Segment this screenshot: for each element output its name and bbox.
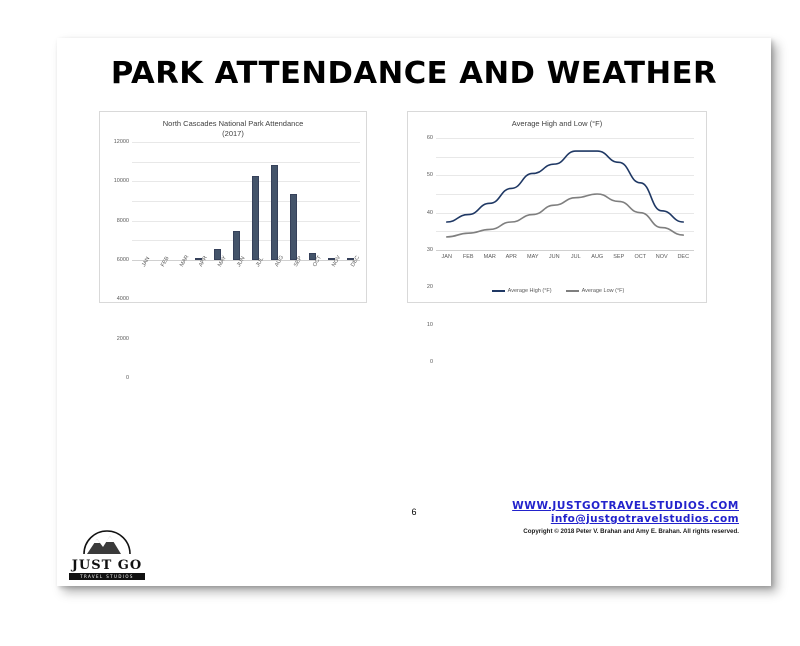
logo-wordmark: JUST GO [69, 558, 145, 573]
footer-contact-block: WWW.JUSTGOTRAVELSTUDIOS.COM info@justgot… [512, 500, 739, 536]
bar-chart-title-main: North Cascades National Park Attendance [163, 119, 304, 128]
bar-y-axis-label: 12000 [114, 139, 129, 145]
line-y-axis-label: 40 [427, 210, 433, 216]
line-y-axis-label: 50 [427, 172, 433, 178]
logo-tagline: TRAVEL STUDIOS [69, 573, 145, 580]
line-x-axis-label: FEB [463, 254, 474, 260]
bar-gridline: 2000 [132, 240, 360, 241]
line-x-axis-label: MAR [484, 254, 496, 260]
bar-y-axis-label: 4000 [117, 296, 129, 302]
line-y-axis-label: 30 [427, 247, 433, 253]
copyright-text: Copyright © 2018 Peter V. Brahan and Amy… [512, 528, 739, 536]
temperature-line-chart: Average High and Low (°F) 0102030405060J… [407, 111, 707, 303]
attendance-bar-chart: North Cascades National Park Attendance … [99, 111, 367, 303]
legend-label: Average High (°F) [508, 288, 552, 294]
bar [252, 176, 259, 260]
email-link[interactable]: info@justgotravelstudios.com [512, 513, 739, 526]
line-x-axis-label: SEP [613, 254, 624, 260]
website-link[interactable]: WWW.JUSTGOTRAVELSTUDIOS.COM [512, 500, 739, 513]
line-x-axis-label: NOV [656, 254, 668, 260]
bar-y-axis-label: 2000 [117, 336, 129, 342]
bar-gridline: 10000 [132, 162, 360, 163]
line-series-group [436, 138, 694, 250]
legend-swatch [566, 290, 579, 292]
line-x-axis-label: AUG [591, 254, 603, 260]
line-plot-area: 0102030405060JANFEBMARAPRMAYJUNJULAUGSEP… [436, 138, 694, 250]
bar [290, 194, 297, 260]
bar-gridline: 12000 [132, 142, 360, 143]
bar [271, 165, 278, 260]
bar-plot-area: 020004000600080001000012000JANFEBMARAPRM… [132, 142, 360, 260]
bar-chart-subtitle: (2017) [100, 129, 366, 139]
line-gridline: 0 [436, 250, 694, 251]
bar-gridline: 4000 [132, 221, 360, 222]
line-series [447, 194, 684, 237]
bar-x-axis-label: MAR [179, 254, 190, 268]
line-x-axis-label: JUL [571, 254, 581, 260]
legend-label: Average Low (°F) [582, 288, 625, 294]
bar-x-axis-label: FEB [160, 256, 171, 268]
mountain-circle-icon [69, 528, 145, 554]
bar-x-axis-label: NOV [331, 255, 342, 268]
bar-y-axis-label: 10000 [114, 178, 129, 184]
line-x-axis-label: APR [506, 254, 517, 260]
line-x-axis-label: MAY [527, 254, 539, 260]
legend-item[interactable]: Average High (°F) [492, 288, 552, 294]
page-title: PARK ATTENDANCE AND WEATHER [50, 56, 778, 91]
legend-item[interactable]: Average Low (°F) [566, 288, 625, 294]
bar-y-axis-label: 0 [126, 375, 129, 381]
line-x-axis-label: JUN [549, 254, 560, 260]
line-x-axis-label: OCT [634, 254, 646, 260]
bar-x-axis-label: DEC [350, 255, 361, 268]
bar-y-axis-label: 8000 [117, 218, 129, 224]
bar-gridline: 8000 [132, 181, 360, 182]
line-x-axis-label: DEC [677, 254, 689, 260]
line-chart-legend: Average High (°F)Average Low (°F) [408, 288, 708, 294]
bar-y-axis-label: 6000 [117, 257, 129, 263]
line-y-axis-label: 10 [427, 322, 433, 328]
bar-gridline: 6000 [132, 201, 360, 202]
document-page: PARK ATTENDANCE AND WEATHER North Cascad… [57, 38, 771, 586]
brand-logo: JUST GO TRAVEL STUDIOS [69, 528, 145, 574]
line-series [447, 151, 684, 222]
line-y-axis-label: 0 [430, 359, 433, 365]
line-chart-title: Average High and Low (°F) [408, 112, 706, 129]
legend-swatch [492, 290, 505, 292]
bar-x-axis-label: JAN [141, 256, 151, 268]
line-y-axis-label: 60 [427, 135, 433, 141]
bar-chart-title: North Cascades National Park Attendance … [100, 112, 366, 139]
line-chart-title-main: Average High and Low (°F) [512, 119, 602, 128]
line-x-axis-label: JAN [442, 254, 452, 260]
bar [233, 231, 240, 260]
